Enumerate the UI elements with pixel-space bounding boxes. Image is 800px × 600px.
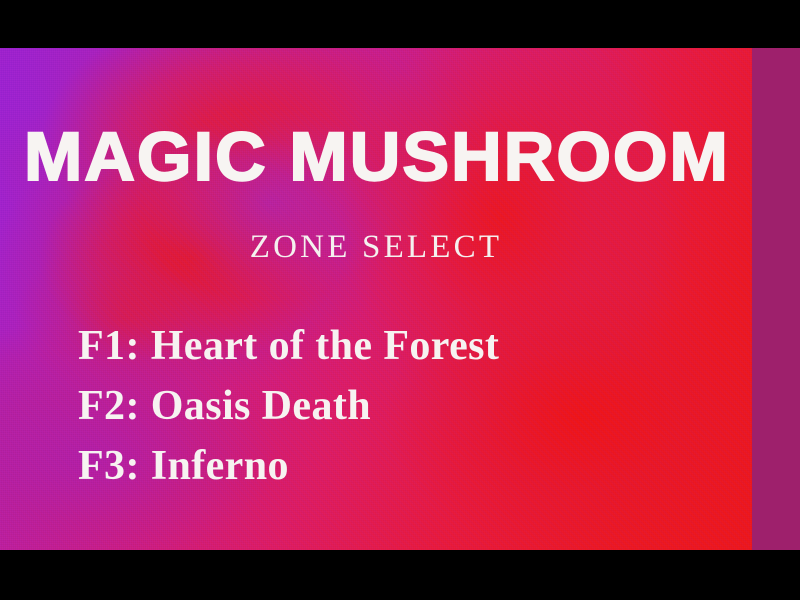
zone-menu-item-f3[interactable]: F3: Inferno xyxy=(78,436,738,496)
game-title: MAGIC MUSHROOM xyxy=(24,122,752,191)
letterbox-bar-top xyxy=(0,0,800,48)
zone-select-menu: F1: Heart of the Forest F2: Oasis Death … xyxy=(78,316,738,496)
zone-menu-item-f2[interactable]: F2: Oasis Death xyxy=(78,376,738,436)
zone-menu-item-f1[interactable]: F1: Heart of the Forest xyxy=(78,316,738,376)
game-screen: MAGIC MUSHROOM ZONE SELECT F1: Heart of … xyxy=(0,0,800,600)
zone-select-heading: ZONE SELECT xyxy=(0,231,752,264)
right-side-panel xyxy=(752,48,800,550)
plasma-playfield: MAGIC MUSHROOM ZONE SELECT F1: Heart of … xyxy=(0,48,752,550)
title-text-layer: MAGIC MUSHROOM ZONE SELECT F1: Heart of … xyxy=(0,48,752,550)
letterbox-bar-bottom xyxy=(0,550,800,600)
